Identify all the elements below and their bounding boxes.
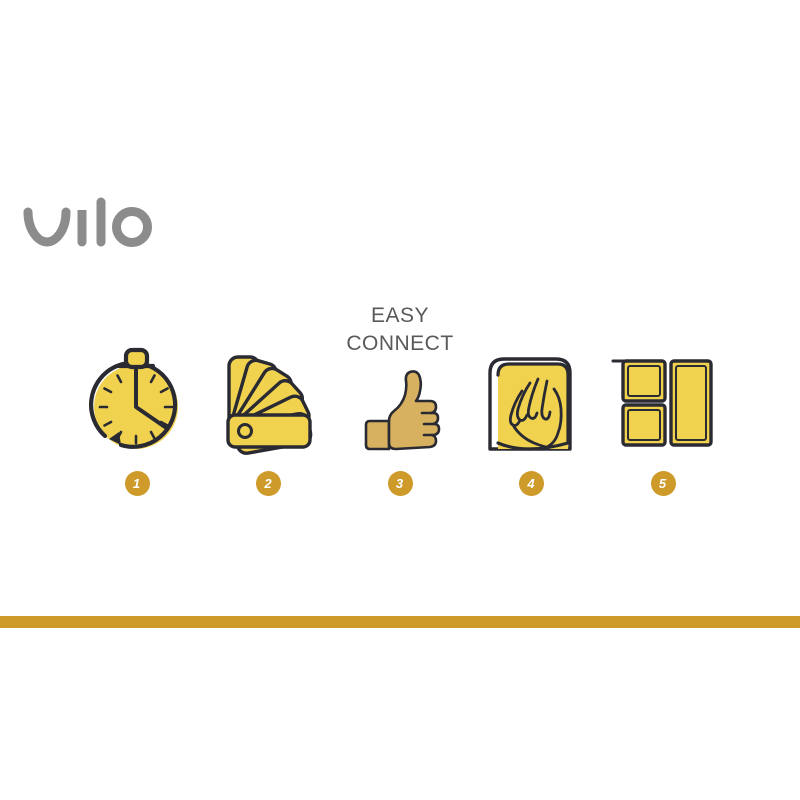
feature-step-2[interactable]: 2: [210, 296, 328, 496]
step-badge: 1: [125, 471, 150, 496]
hand-wiping-panel-icon: [473, 307, 591, 457]
feature-step-3[interactable]: EASY CONNECT 3: [341, 296, 459, 496]
brand-logo: [22, 196, 192, 256]
stopwatch-icon: [78, 307, 196, 457]
step-badge: 2: [256, 471, 281, 496]
step-badge: 5: [651, 471, 676, 496]
feature-step-5[interactable]: 5: [604, 296, 722, 496]
panel-layout-icon: [604, 307, 722, 457]
thumbs-up-icon: [341, 307, 459, 457]
feature-step-1[interactable]: 1: [78, 296, 196, 496]
feature-steps-row: 1: [78, 296, 722, 496]
step-badge: 4: [519, 471, 544, 496]
bottom-accent-bar: [0, 616, 800, 628]
feature-step-4[interactable]: 4: [473, 296, 591, 496]
step-badge: 3: [388, 471, 413, 496]
slide-canvas: 1: [0, 0, 800, 800]
color-swatch-fan-icon: [210, 307, 328, 457]
